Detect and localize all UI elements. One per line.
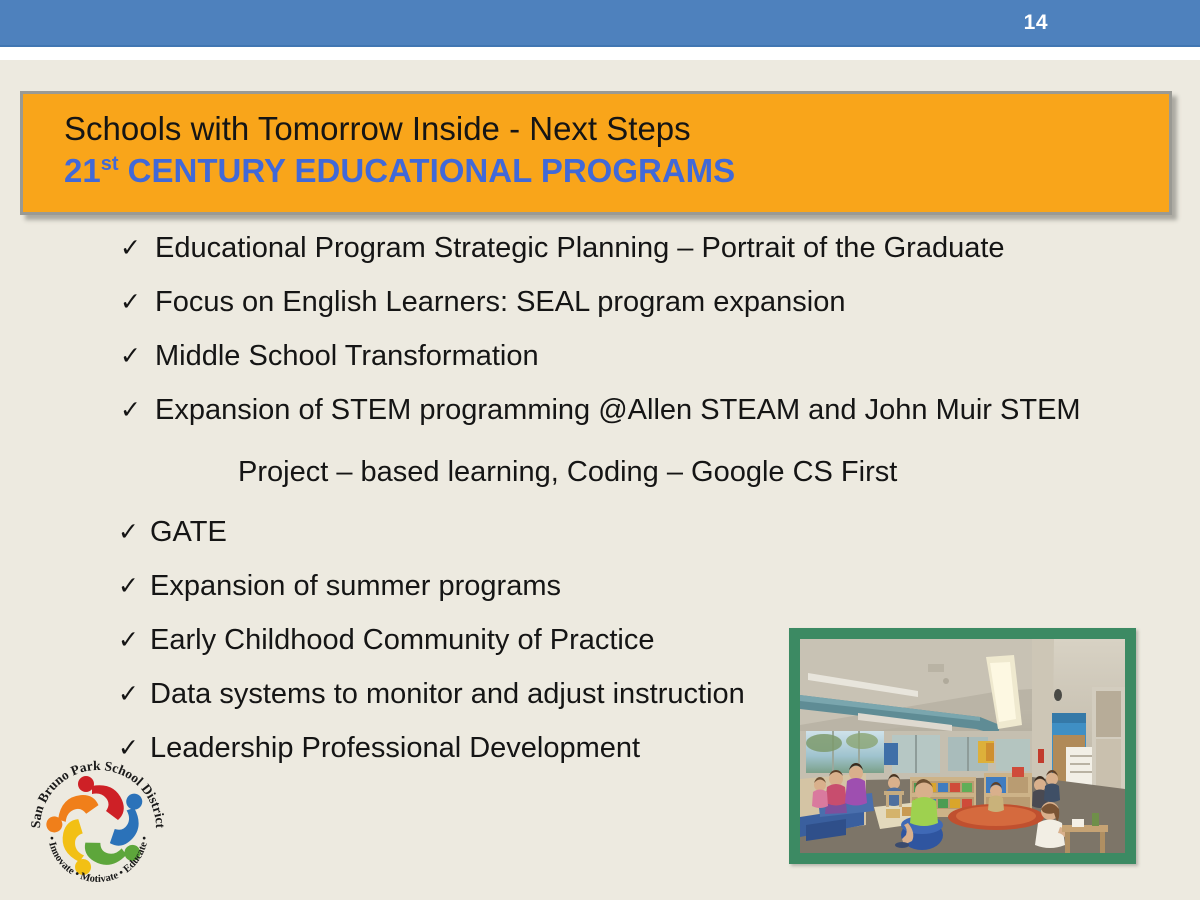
- checkmark-icon: ✓: [118, 624, 139, 656]
- district-logo-mark: San Bruno Park School District • Innovat…: [22, 748, 174, 900]
- page-number: 14: [1024, 11, 1048, 35]
- list-item: ✓ GATE: [0, 512, 1200, 566]
- list-item: ✓ Middle School Transformation: [0, 336, 1200, 390]
- classroom-photo-frame: [789, 628, 1136, 864]
- classroom-photo-illustration: [800, 639, 1125, 853]
- list-item-label: Early Childhood Community of Practice: [150, 620, 654, 660]
- district-logo: San Bruno Park School District • Innovat…: [22, 748, 174, 900]
- list-item-label: GATE: [150, 512, 227, 552]
- list-item: ✓ Expansion of summer programs: [0, 566, 1200, 620]
- presentation-slide: 14 Schools with Tomorrow Inside - Next S…: [0, 0, 1200, 900]
- list-item-continuation: Project – based learning, Coding – Googl…: [0, 444, 1200, 512]
- header-white-gap: [0, 47, 1200, 60]
- title-year-number: 21: [64, 152, 101, 189]
- list-item-label: Middle School Transformation: [155, 336, 539, 376]
- list-item: ✓ Focus on English Learners: SEAL progra…: [0, 282, 1200, 336]
- checkmark-icon: ✓: [120, 340, 141, 372]
- title-box: Schools with Tomorrow Inside - Next Step…: [20, 91, 1172, 215]
- header-band: [0, 0, 1200, 47]
- list-item: ✓ Expansion of STEM programming @Allen S…: [0, 390, 1200, 444]
- checkmark-icon: ✓: [118, 516, 139, 548]
- checkmark-icon: ✓: [120, 286, 141, 318]
- title-secondary-rest: CENTURY EDUCATIONAL PROGRAMS: [119, 152, 736, 189]
- checkmark-icon: ✓: [118, 570, 139, 602]
- title-line-secondary: 21st CENTURY EDUCATIONAL PROGRAMS: [64, 152, 735, 190]
- list-item-continuation-label: Project – based learning, Coding – Googl…: [238, 452, 897, 492]
- classroom-photo: [800, 639, 1125, 853]
- title-line-primary: Schools with Tomorrow Inside - Next Step…: [64, 110, 691, 148]
- list-item-label: Expansion of summer programs: [150, 566, 561, 606]
- list-item: ✓ Educational Program Strategic Planning…: [0, 228, 1200, 282]
- list-item-label: Data systems to monitor and adjust instr…: [150, 674, 745, 714]
- list-item-label: Leadership Professional Development: [150, 728, 640, 768]
- list-item-label: Educational Program Strategic Planning –…: [155, 228, 1005, 268]
- list-item-label: Expansion of STEM programming @Allen STE…: [155, 390, 1081, 430]
- title-ordinal-suffix: st: [101, 153, 119, 175]
- checkmark-icon: ✓: [120, 394, 141, 426]
- checkmark-icon: ✓: [120, 232, 141, 264]
- checkmark-icon: ✓: [118, 678, 139, 710]
- list-item-label: Focus on English Learners: SEAL program …: [155, 282, 845, 322]
